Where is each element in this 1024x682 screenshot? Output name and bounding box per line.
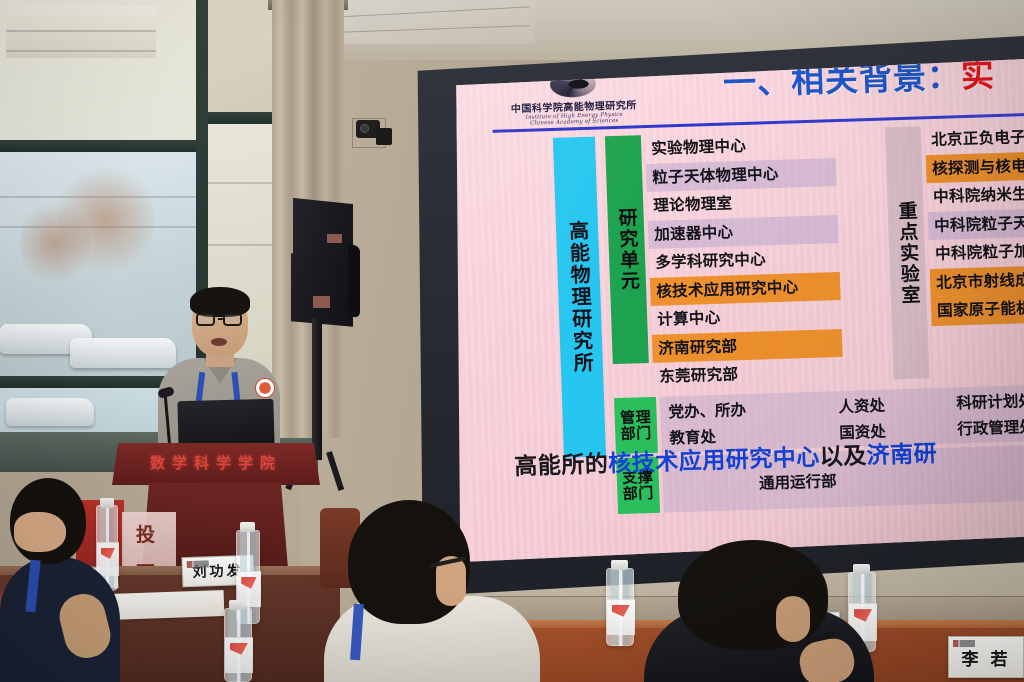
camera-lens-icon	[360, 124, 369, 133]
water-bottle	[606, 568, 634, 646]
bottom-seg-4: 济南研	[866, 441, 937, 469]
water-bottle	[224, 608, 252, 682]
bottle-label	[607, 599, 635, 635]
list-item: 北京正负电子	[925, 119, 1024, 155]
presenter-laptop	[177, 399, 274, 449]
bottle-label	[225, 637, 253, 673]
institute-column: 高能物理研究所	[553, 137, 606, 458]
nameplate-logo-icon	[187, 560, 209, 568]
presentation-slide: 中国科学院高能物理研究所 Institute of High Energy Ph…	[454, 57, 1024, 562]
projection-screen[interactable]: 中国科学院高能物理研究所 Institute of High Energy Ph…	[454, 57, 1024, 562]
presenter-mouth	[211, 338, 227, 346]
list-item: 东莞研究部	[653, 357, 844, 391]
audience-person-face	[14, 512, 66, 552]
window-mullion	[0, 140, 196, 152]
bottom-seg-2: 核技术应用研究中心	[608, 445, 820, 478]
nameplate: 李 若	[948, 636, 1024, 678]
management-badge-label: 管理部门	[620, 409, 652, 442]
window-pane	[0, 0, 196, 140]
audience-person-ear	[776, 596, 810, 642]
conference-room-photo: 中国科学院高能物理研究所 Institute of High Energy Ph…	[0, 0, 1024, 682]
research-unit-column-label: 研究单元	[615, 207, 638, 292]
speaker-stand-pole	[312, 318, 322, 460]
presenter-glasses-left	[196, 313, 215, 326]
podium-label: 数学科学学院	[118, 452, 314, 473]
window-pane	[0, 152, 196, 376]
presenter-glasses-bridge	[218, 318, 224, 320]
key-lab-column-label: 重点实验室	[895, 200, 919, 306]
presenter-badge	[255, 378, 275, 398]
bottle-cap	[853, 564, 870, 574]
bottom-seg-1: 高能所的	[514, 451, 609, 480]
list-item: 科研计划处	[956, 389, 1024, 413]
bottle-cap	[240, 522, 255, 532]
bottle-label	[97, 542, 119, 576]
speaker-label	[313, 296, 330, 308]
list-item: 人资处	[838, 394, 885, 417]
list-item: 党办、所办	[668, 398, 746, 422]
research-unit-column: 研究单元	[605, 135, 649, 364]
bottle-cap	[611, 560, 628, 570]
pa-speaker-lower	[291, 253, 353, 326]
document-paper	[108, 590, 225, 620]
research-unit-rows: 实验物理中心 粒子天体物理中心 理论物理室 加速器中心 多学科研究中心 核技术应…	[645, 129, 844, 391]
key-lab-column: 重点实验室	[885, 126, 930, 379]
presenter-glasses-right	[223, 313, 242, 326]
bottle-cap	[100, 498, 114, 508]
key-lab-rows: 北京正负电子 核探测与核电 中科院纳米生 中科院粒子天 中科院粒子加 北京市射线…	[925, 119, 1024, 325]
list-item: 行政管理处	[957, 415, 1024, 439]
speaker-label	[327, 234, 342, 243]
nameplate-logo-icon	[953, 640, 975, 647]
nameplate-name: 李 若	[962, 645, 1011, 670]
speaker-side-panel	[348, 244, 360, 318]
banner-char: 投	[136, 520, 155, 547]
slide-title-red: 实	[960, 57, 995, 95]
bottom-seg-3: 以及	[819, 443, 867, 470]
bottle-cap	[229, 600, 246, 610]
camera-arm	[376, 128, 392, 145]
institute-column-label: 高能物理研究所	[566, 220, 592, 375]
